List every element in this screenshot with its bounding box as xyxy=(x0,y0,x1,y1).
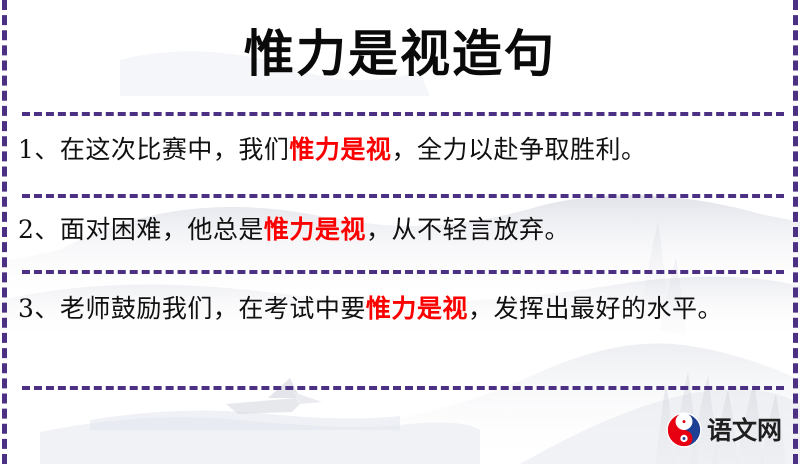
sentence-3-highlight: 惟力是视 xyxy=(366,294,468,323)
site-watermark-text: 语文网 xyxy=(707,418,782,443)
left-dashed-border xyxy=(2,0,7,464)
sentence-item-3: 3、老师鼓励我们，在考试中要惟力是视，发挥出最好的水平。 xyxy=(18,285,770,333)
sentence-2-number: 2、 xyxy=(18,215,60,244)
sentence-2-highlight: 惟力是视 xyxy=(264,215,366,244)
separator-rule-4 xyxy=(22,386,784,390)
sentence-1-highlight: 惟力是视 xyxy=(289,135,391,164)
yinyang-logo-icon xyxy=(666,412,702,448)
separator-rule-2 xyxy=(22,194,784,198)
sentence-1-number: 1、 xyxy=(18,135,60,164)
sentence-2-before: 面对困难，他总是 xyxy=(60,215,264,244)
page-title: 惟力是视造句 xyxy=(0,18,800,90)
sentence-item-1: 1、在这次比赛中，我们惟力是视，全力以赴争取胜利。 xyxy=(18,126,770,174)
sentence-3-before: 老师鼓励我们，在考试中要 xyxy=(60,294,366,323)
separator-rule-1 xyxy=(22,112,784,116)
sentence-1-after: ，全力以赴争取胜利。 xyxy=(391,135,646,164)
separator-rule-3 xyxy=(22,270,784,274)
content-area: 惟力是视造句 1、在这次比赛中，我们惟力是视，全力以赴争取胜利。 2、面对困难，… xyxy=(0,0,800,464)
right-dashed-border xyxy=(793,0,798,464)
site-watermark-logo: 语文网 xyxy=(666,412,782,448)
sentence-2-after: ，从不轻言放弃。 xyxy=(366,215,570,244)
sentence-item-2: 2、面对困难，他总是惟力是视，从不轻言放弃。 xyxy=(18,206,770,254)
sentence-3-number: 3、 xyxy=(18,294,60,323)
worksheet-page: 惟力是视造句 1、在这次比赛中，我们惟力是视，全力以赴争取胜利。 2、面对困难，… xyxy=(0,0,800,464)
sentence-3-after: ，发挥出最好的水平。 xyxy=(468,294,723,323)
sentence-1-before: 在这次比赛中，我们 xyxy=(60,135,290,164)
